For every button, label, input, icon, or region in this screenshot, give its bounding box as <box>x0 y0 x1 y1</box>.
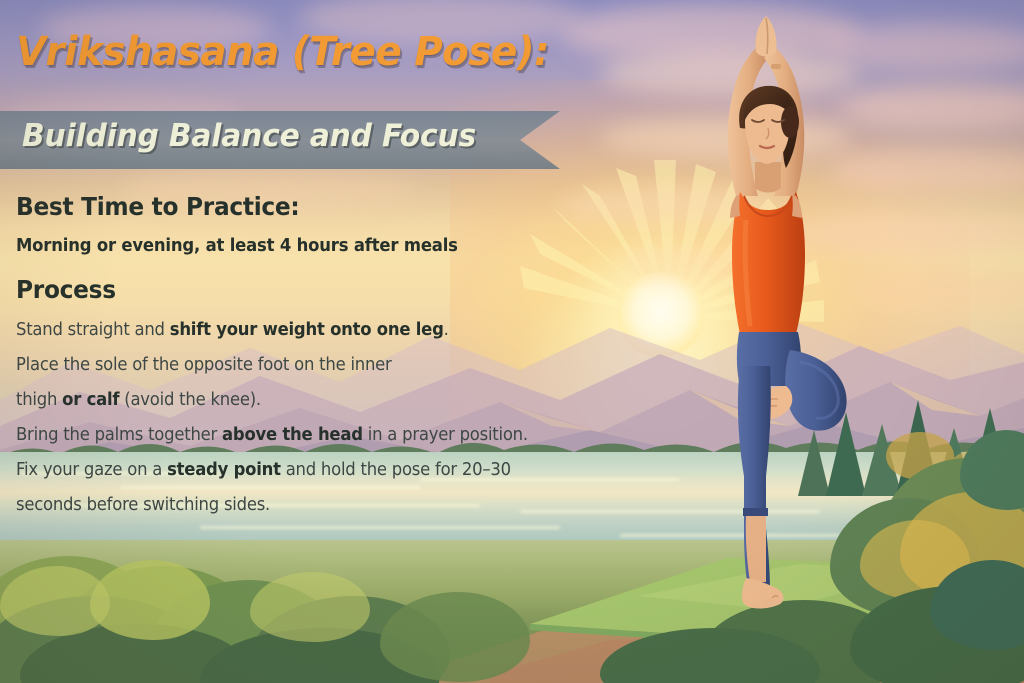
best-time-heading: Best Time to Practice: <box>16 192 299 221</box>
step-text: thigh <box>16 390 62 410</box>
step-text: . <box>444 320 449 340</box>
process-step-line: Fix your gaze on a steady point and hold… <box>16 453 608 488</box>
step-text: and hold the pose for 20–30 <box>281 460 511 480</box>
process-step-line: Stand straight and shift your weight ont… <box>16 313 608 348</box>
step-text: (avoid the knee). <box>119 390 261 410</box>
step-text: Place the sole of the opposite foot on t… <box>16 355 392 375</box>
process-heading: Process <box>16 275 116 304</box>
process-step-line: Place the sole of the opposite foot on t… <box>16 348 608 383</box>
woman-tree-pose-figure <box>640 10 900 620</box>
step-text: Stand straight and <box>16 320 170 340</box>
process-step-line: seconds before switching sides. <box>16 488 608 523</box>
text-panel: Vrikshasana (Tree Pose): Building Balanc… <box>0 0 660 560</box>
page-title: Vrikshasana (Tree Pose): <box>16 29 549 75</box>
step-emphasis: above the head <box>222 425 363 445</box>
step-text: Bring the palms together <box>16 425 222 445</box>
shrub <box>250 572 370 642</box>
step-emphasis: steady point <box>167 460 281 480</box>
process-steps-list: Stand straight and shift your weight ont… <box>16 313 646 523</box>
step-emphasis: shift your weight onto one leg <box>170 320 444 340</box>
process-step-line: thigh or calf (avoid the knee). <box>16 383 608 418</box>
shrub <box>0 566 110 636</box>
step-text: seconds before switching sides. <box>16 495 270 515</box>
page-subtitle: Building Balance and Focus <box>22 118 476 154</box>
process-step-line: Bring the palms together above the head … <box>16 418 608 453</box>
yoga-pose-infographic-poster: Vrikshasana (Tree Pose): Building Balanc… <box>0 0 1024 683</box>
step-text: in a prayer position. <box>363 425 528 445</box>
step-text: Fix your gaze on a <box>16 460 167 480</box>
best-time-text: Morning or evening, at least 4 hours aft… <box>16 236 458 256</box>
step-emphasis: or calf <box>62 390 119 410</box>
